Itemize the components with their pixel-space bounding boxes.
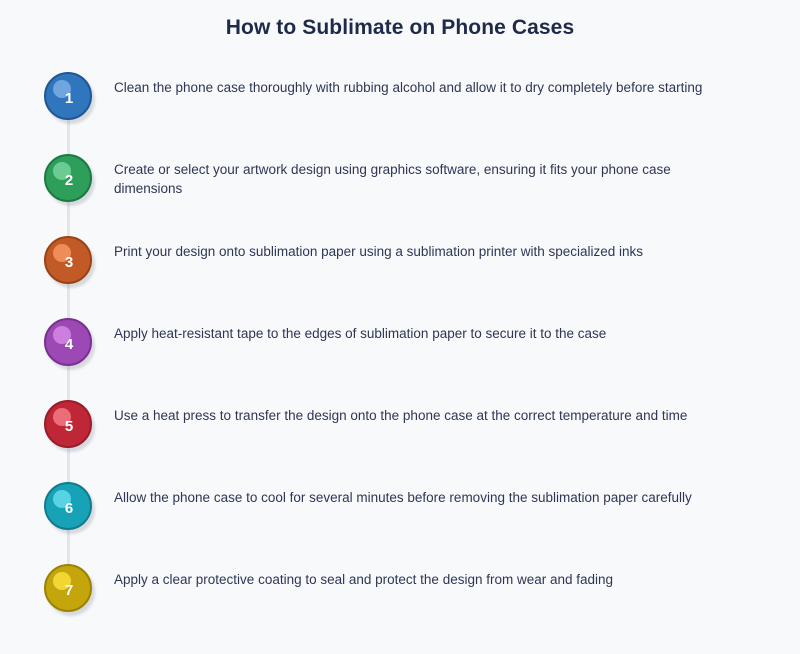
step-number: 6	[44, 482, 92, 530]
step-number: 5	[44, 400, 92, 448]
step-marker-5[interactable]: 5	[44, 400, 92, 448]
step-marker-4[interactable]: 4	[44, 318, 92, 366]
step-item: 5Use a heat press to transfer the design…	[0, 400, 800, 482]
step-description: Clean the phone case thoroughly with rub…	[114, 79, 718, 98]
step-description: Apply a clear protective coating to seal…	[114, 571, 718, 590]
step-description: Allow the phone case to cool for several…	[114, 489, 718, 508]
step-number: 3	[44, 236, 92, 284]
infographic-root: How to Sublimate on Phone Cases 1Clean t…	[0, 0, 800, 654]
page-title: How to Sublimate on Phone Cases	[0, 16, 800, 40]
step-description: Use a heat press to transfer the design …	[114, 407, 718, 426]
step-description: Apply heat-resistant tape to the edges o…	[114, 325, 718, 344]
step-marker-7[interactable]: 7	[44, 564, 92, 612]
step-marker-3[interactable]: 3	[44, 236, 92, 284]
step-marker-1[interactable]: 1	[44, 72, 92, 120]
step-number: 4	[44, 318, 92, 366]
step-item: 4Apply heat-resistant tape to the edges …	[0, 318, 800, 400]
step-description: Print your design onto sublimation paper…	[114, 243, 718, 262]
step-marker-2[interactable]: 2	[44, 154, 92, 202]
step-number: 2	[44, 154, 92, 202]
step-item: 1Clean the phone case thoroughly with ru…	[0, 72, 800, 154]
step-item: 6Allow the phone case to cool for severa…	[0, 482, 800, 564]
step-number: 1	[44, 72, 92, 120]
step-description: Create or select your artwork design usi…	[114, 161, 718, 198]
step-marker-6[interactable]: 6	[44, 482, 92, 530]
step-item: 3Print your design onto sublimation pape…	[0, 236, 800, 318]
step-item: 2Create or select your artwork design us…	[0, 154, 800, 236]
step-number: 7	[44, 564, 92, 612]
step-item: 7Apply a clear protective coating to sea…	[0, 564, 800, 646]
